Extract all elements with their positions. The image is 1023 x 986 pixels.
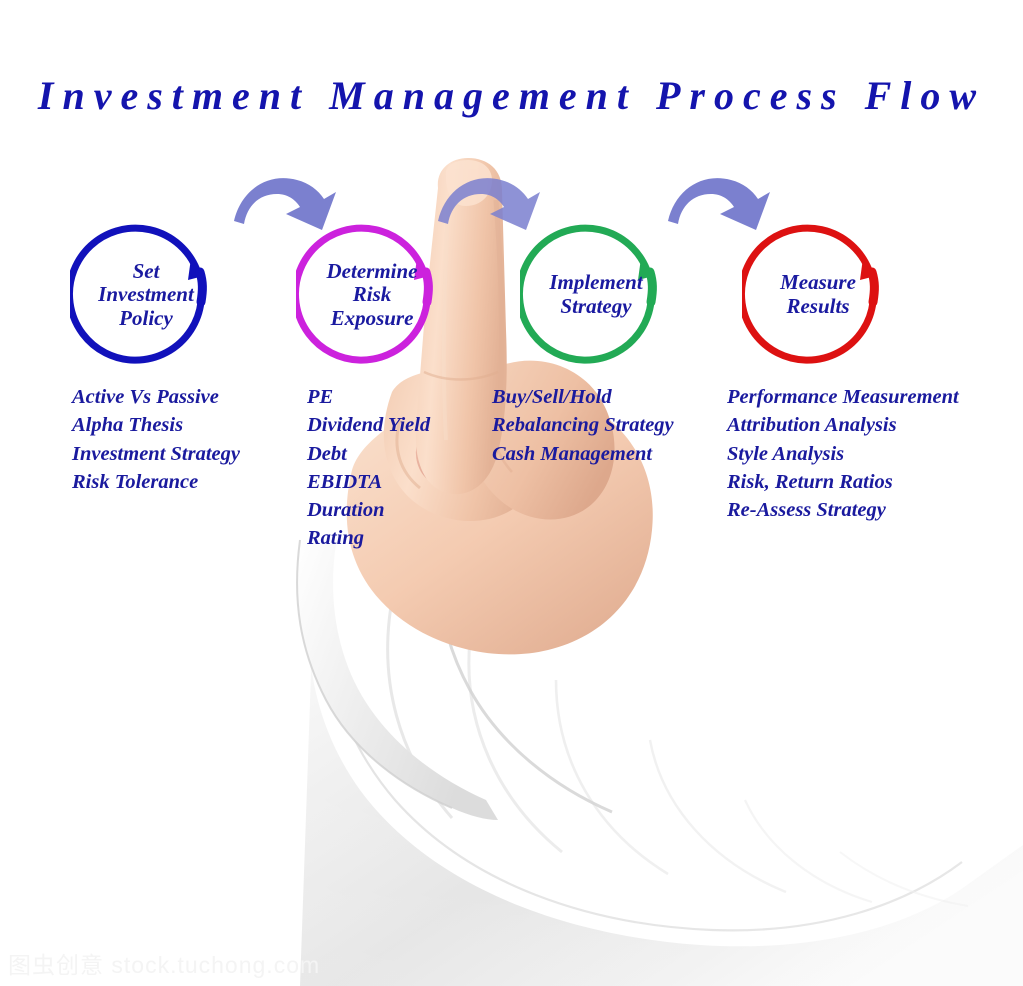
stage-node-implement-strategy[interactable]: Implement Strategy [520, 222, 672, 368]
stage-label-3: Implement Strategy [520, 222, 672, 368]
list-item: Rating [307, 524, 430, 552]
stage-node-determine-risk-exposure[interactable]: Determine Risk Exposure [296, 222, 448, 368]
list-item: Re-Assess Strategy [727, 496, 959, 524]
stage-items-3: Buy/Sell/Hold Rebalancing Strategy Cash … [492, 383, 674, 468]
list-item: Debt [307, 440, 430, 468]
stage-items-1: Active Vs Passive Alpha Thesis Investmen… [72, 383, 240, 496]
stage-label-line: Measure [780, 271, 856, 295]
list-item: Active Vs Passive [72, 383, 240, 411]
stage-label-line: Results [786, 295, 849, 319]
list-item: Performance Measurement [727, 383, 959, 411]
list-item: Duration [307, 496, 430, 524]
diagram-canvas: Investment Management Process Flow Set I… [0, 0, 1023, 986]
stage-node-measure-results[interactable]: Measure Results [742, 222, 894, 368]
stage-label-line: Investment [98, 283, 194, 307]
list-item: Rebalancing Strategy [492, 411, 674, 439]
stage-label-line: Implement [549, 271, 642, 295]
list-item: Risk, Return Ratios [727, 468, 959, 496]
stage-label-line: Risk [353, 283, 392, 307]
stage-items-2: PE Dividend Yield Debt EBIDTA Duration R… [307, 383, 430, 553]
list-item: Alpha Thesis [72, 411, 240, 439]
stage-label-4: Measure Results [742, 222, 894, 368]
list-item: EBIDTA [307, 468, 430, 496]
list-item: Buy/Sell/Hold [492, 383, 674, 411]
stage-label-2: Determine Risk Exposure [296, 222, 448, 368]
list-item: Style Analysis [727, 440, 959, 468]
list-item: Dividend Yield [307, 411, 430, 439]
stage-label-line: Strategy [560, 295, 631, 319]
list-item: Attribution Analysis [727, 411, 959, 439]
stage-label-line: Exposure [331, 307, 414, 331]
stage-label-line: Set [133, 260, 160, 284]
list-item: Risk Tolerance [72, 468, 240, 496]
list-item: Cash Management [492, 440, 674, 468]
stage-label-line: Policy [119, 307, 173, 331]
stage-label-line: Determine [327, 260, 418, 284]
watermark: 图虫创意 stock.tuchong.com [8, 946, 320, 980]
stage-label-1: Set Investment Policy [70, 222, 222, 368]
list-item: Investment Strategy [72, 440, 240, 468]
list-item: PE [307, 383, 430, 411]
page-title: Investment Management Process Flow [0, 72, 1023, 119]
stage-node-set-investment-policy[interactable]: Set Investment Policy [70, 222, 222, 368]
stage-items-4: Performance Measurement Attribution Anal… [727, 383, 959, 524]
